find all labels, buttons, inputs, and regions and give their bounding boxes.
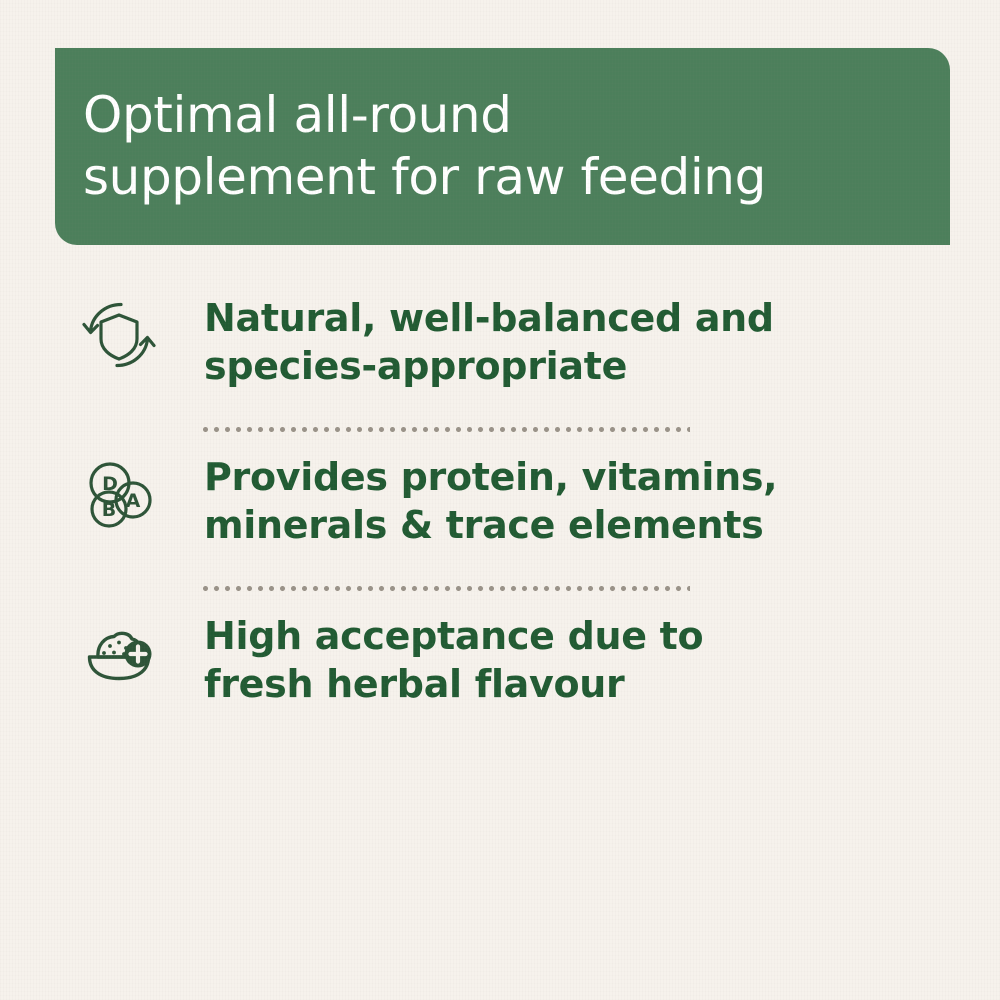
- vitamin-a-label: A: [126, 490, 141, 512]
- feature-label: Provides protein, vitamins, minerals & t…: [204, 449, 804, 549]
- feature-item-natural: Natural, well-balanced and species-appro…: [0, 290, 1000, 410]
- feature-list: Natural, well-balanced and species-appro…: [0, 290, 1000, 728]
- food-bowl-plus-icon: [80, 614, 158, 692]
- vitamin-d-label: D: [102, 473, 118, 495]
- feature-item-flavour: High acceptance due to fresh herbal flav…: [0, 608, 1000, 728]
- vitamin-b-label: B: [102, 499, 116, 521]
- shield-cycle-icon: [80, 296, 158, 374]
- vitamins-dba-circles-icon: D A B: [80, 455, 158, 533]
- feature-divider: [200, 426, 690, 433]
- page-title: Optimal all-round supplement for raw fee…: [83, 84, 910, 208]
- feature-label: Natural, well-balanced and species-appro…: [204, 290, 804, 390]
- feature-item-nutrients: D A B Provides protein, vitamins, minera…: [0, 449, 1000, 569]
- feature-divider: [200, 585, 690, 592]
- benefits-panel: Optimal all-round supplement for raw fee…: [0, 0, 1000, 1000]
- feature-label: High acceptance due to fresh herbal flav…: [204, 608, 804, 708]
- header-banner: Optimal all-round supplement for raw fee…: [55, 48, 950, 245]
